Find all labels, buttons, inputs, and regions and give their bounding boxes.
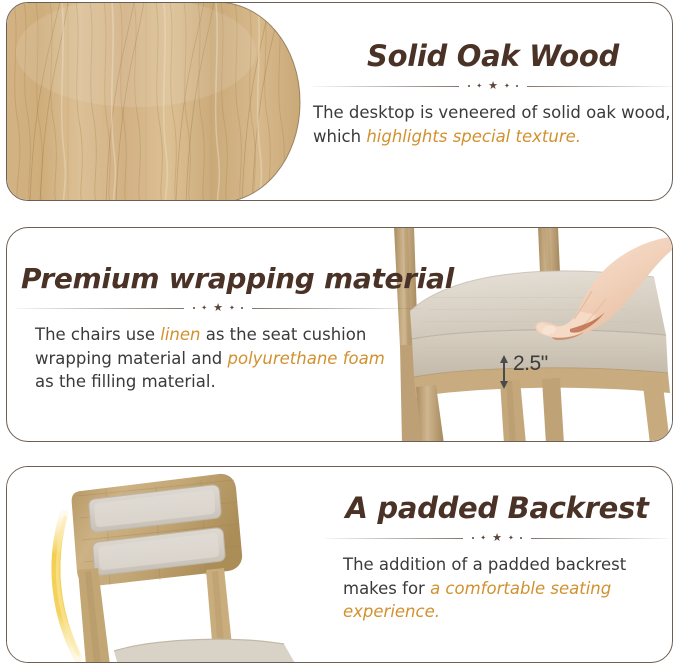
dot-icon bbox=[472, 537, 474, 539]
panel-heading: Solid Oak Wood bbox=[313, 41, 673, 71]
feature-text-premium-wrapping-material: Premium wrapping material ✦ ★ ✦ The chai… bbox=[15, 264, 421, 394]
divider-ornament: ✦ ★ ✦ bbox=[459, 81, 527, 92]
divider-rule-left bbox=[325, 538, 463, 539]
divider-rule-right bbox=[531, 538, 669, 539]
dot-icon bbox=[516, 85, 518, 87]
oak-tabletop-image bbox=[6, 2, 302, 201]
body-text-accent: highlights special texture. bbox=[366, 127, 581, 146]
oak-tabletop-svg bbox=[6, 2, 302, 201]
dot-icon bbox=[468, 85, 470, 87]
panel-body-text: The addition of a padded backrest makes … bbox=[325, 553, 669, 623]
divider-ornament: ✦ ★ ✦ bbox=[184, 303, 252, 314]
dimension-label: 2.5" bbox=[513, 352, 548, 376]
star-large-icon: ★ bbox=[213, 303, 223, 314]
feature-card-solid-oak-wood: Solid Oak Wood ✦ ★ ✦ The desktop is vene… bbox=[6, 2, 673, 201]
divider-ornament: ✦ ★ ✦ bbox=[463, 533, 531, 544]
star-large-icon: ★ bbox=[488, 81, 498, 92]
chair-seat-cushion-image: 2.5" bbox=[392, 227, 673, 442]
divider-rule-right bbox=[252, 308, 421, 309]
star-small-icon: ✦ bbox=[476, 83, 482, 90]
star-small-icon: ✦ bbox=[229, 305, 235, 312]
feature-card-premium-wrapping-material: 2.5" Premium wrapping material ✦ ★ ✦ The… bbox=[6, 227, 673, 442]
feature-card-padded-backrest: A padded Backrest ✦ ★ ✦ The addition of … bbox=[6, 466, 673, 663]
panel-body-text: The desktop is veneered of solid oak woo… bbox=[313, 101, 673, 148]
star-small-icon: ✦ bbox=[201, 305, 207, 312]
divider-rule-left bbox=[313, 86, 459, 87]
panel-heading: Premium wrapping material bbox=[15, 264, 421, 293]
divider-rule-left bbox=[15, 308, 184, 309]
ornamental-divider: ✦ ★ ✦ bbox=[313, 80, 673, 92]
divider-rule-right bbox=[527, 86, 673, 87]
dot-icon bbox=[520, 537, 522, 539]
product-feature-page: Solid Oak Wood ✦ ★ ✦ The desktop is vene… bbox=[0, 0, 679, 665]
ornamental-divider: ✦ ★ ✦ bbox=[15, 302, 421, 314]
chair-seat-svg bbox=[392, 227, 673, 442]
body-text-plain: The chairs use bbox=[35, 325, 160, 344]
dot-icon bbox=[193, 307, 195, 309]
star-large-icon: ★ bbox=[492, 533, 502, 544]
dot-icon bbox=[241, 307, 243, 309]
star-small-icon: ✦ bbox=[508, 535, 514, 542]
chair-padded-backrest-image bbox=[6, 466, 336, 663]
panel-heading: A padded Backrest bbox=[325, 493, 669, 523]
chair-backrest-svg bbox=[6, 466, 336, 663]
star-small-icon: ✦ bbox=[504, 83, 510, 90]
ornamental-divider: ✦ ★ ✦ bbox=[325, 532, 669, 544]
body-text-accent-2: polyurethane foam bbox=[228, 349, 385, 368]
star-small-icon: ✦ bbox=[480, 535, 486, 542]
feature-text-padded-backrest: A padded Backrest ✦ ★ ✦ The addition of … bbox=[325, 493, 669, 624]
body-text-accent: linen bbox=[160, 325, 200, 344]
feature-text-solid-oak-wood: Solid Oak Wood ✦ ★ ✦ The desktop is vene… bbox=[313, 41, 673, 148]
panel-body-text: The chairs use linen as the seat cushion… bbox=[15, 323, 421, 393]
body-text-plain-3: as the filling material. bbox=[35, 372, 216, 391]
